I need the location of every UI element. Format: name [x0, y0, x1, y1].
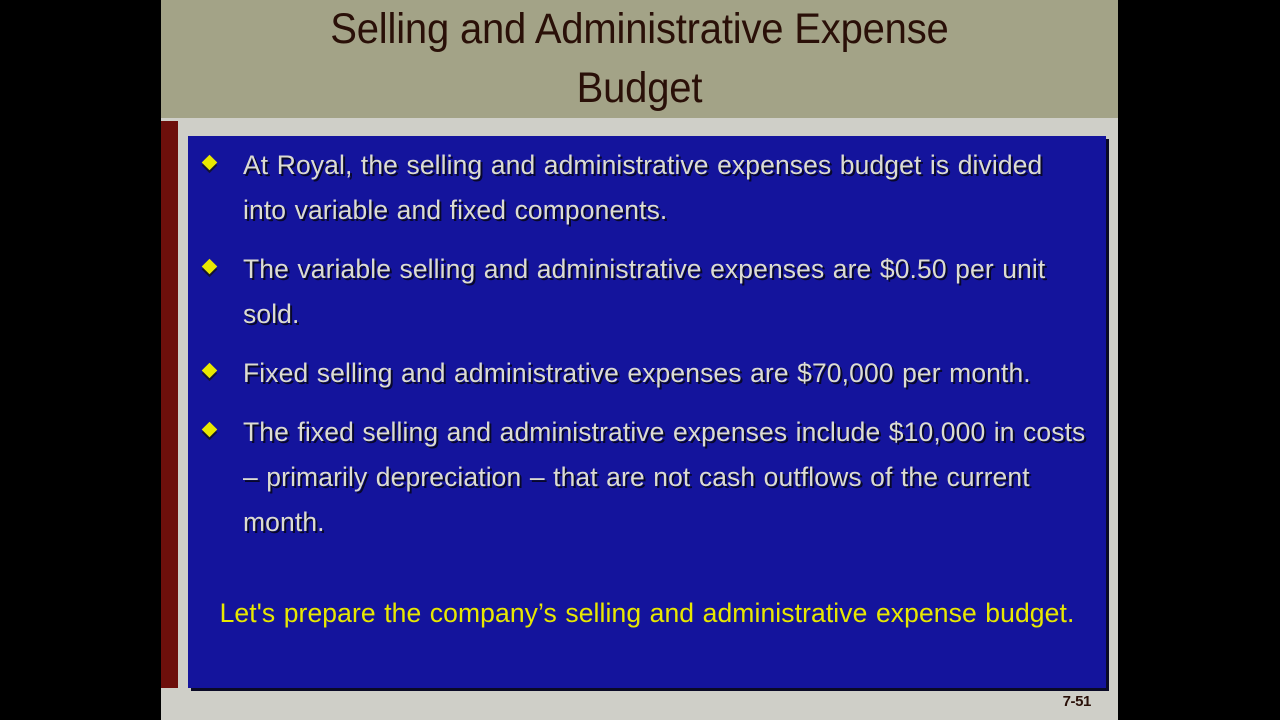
slide-title-band: Selling and Administrative Expense Budge… — [161, 0, 1118, 118]
left-accent-bar — [161, 121, 178, 688]
slide-body-panel: At Royal, the selling and administrative… — [188, 136, 1106, 688]
bullet-list: At Royal, the selling and administrative… — [188, 143, 1106, 559]
letterbox-right — [1118, 0, 1280, 720]
letterbox-left — [0, 0, 161, 720]
presentation-slide: Selling and Administrative Expense Budge… — [0, 0, 1280, 720]
diamond-bullet-icon — [202, 422, 218, 438]
closing-callout-text: Let's prepare the company’s selling and … — [220, 598, 1075, 628]
slide-footer: 7-51 — [161, 692, 1118, 720]
list-item-text: Fixed selling and administrative expense… — [243, 358, 1031, 388]
list-item: The fixed selling and administrative exp… — [188, 410, 1106, 545]
list-item-text: The fixed selling and administrative exp… — [243, 417, 1085, 537]
diamond-bullet-icon — [202, 363, 218, 379]
list-item: Fixed selling and administrative expense… — [188, 351, 1106, 396]
page-number: 7-51 — [1063, 693, 1091, 710]
list-item-text: The variable selling and administrative … — [243, 254, 1045, 329]
page-title: Selling and Administrative Expense Budge… — [330, 0, 948, 118]
diamond-bullet-icon — [202, 259, 218, 275]
list-item: At Royal, the selling and administrative… — [188, 143, 1106, 233]
list-item-text: At Royal, the selling and administrative… — [243, 150, 1042, 225]
closing-callout: Let's prepare the company’s selling and … — [188, 591, 1106, 635]
list-item: The variable selling and administrative … — [188, 247, 1106, 337]
diamond-bullet-icon — [202, 155, 218, 171]
